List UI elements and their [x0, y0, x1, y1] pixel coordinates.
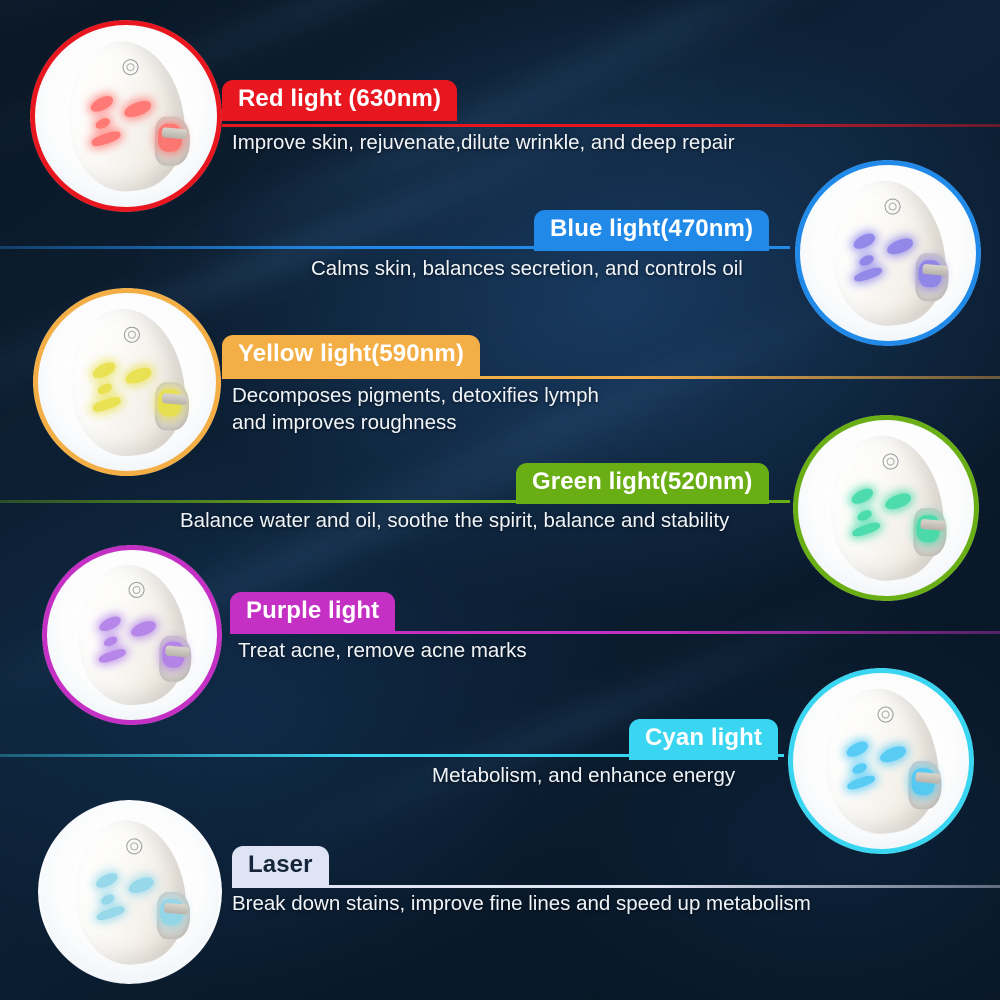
mask-photo-yellow [33, 288, 221, 476]
mask-ring-cyan [788, 668, 974, 854]
mask-photo-blue [795, 160, 981, 346]
light-mode-description-purple: Treat acne, remove acne marks [238, 638, 527, 665]
mask-photo-red [30, 20, 222, 212]
light-mode-description-blue: Calms skin, balances secretion, and cont… [311, 256, 743, 283]
light-mode-label-blue[interactable]: Blue light(470nm) [534, 210, 769, 251]
mask-photo-green [793, 415, 979, 601]
divider-line-yellow [222, 376, 1000, 379]
mask-ring-green [793, 415, 979, 601]
light-mode-description-red: Improve skin, rejuvenate,dilute wrinkle,… [232, 130, 735, 157]
light-mode-label-yellow[interactable]: Yellow light(590nm) [222, 335, 480, 376]
light-mode-description-cyan: Metabolism, and enhance energy [432, 763, 735, 790]
mask-photo-cyan [788, 668, 974, 854]
mask-ring-red [30, 20, 222, 212]
light-mode-label-laser[interactable]: Laser [232, 846, 329, 887]
light-mode-description-laser: Break down stains, improve fine lines an… [232, 891, 811, 918]
mask-ring-yellow [33, 288, 221, 476]
mask-photo-purple [42, 545, 222, 725]
divider-line-laser [232, 885, 1000, 888]
mask-ring-blue [795, 160, 981, 346]
light-mode-label-red[interactable]: Red light (630nm) [222, 80, 457, 121]
light-mode-label-cyan[interactable]: Cyan light [629, 719, 778, 760]
light-mode-label-green[interactable]: Green light(520nm) [516, 463, 769, 504]
light-mode-label-purple[interactable]: Purple light [230, 592, 395, 633]
light-mode-description-yellow: Decomposes pigments, detoxifies lymph an… [232, 383, 599, 436]
light-mode-description-green: Balance water and oil, soothe the spirit… [180, 508, 729, 535]
mask-ring-purple [42, 545, 222, 725]
mask-photo-laser [38, 800, 222, 984]
mask-ring-laser [38, 800, 222, 984]
divider-line-red [222, 124, 1000, 127]
